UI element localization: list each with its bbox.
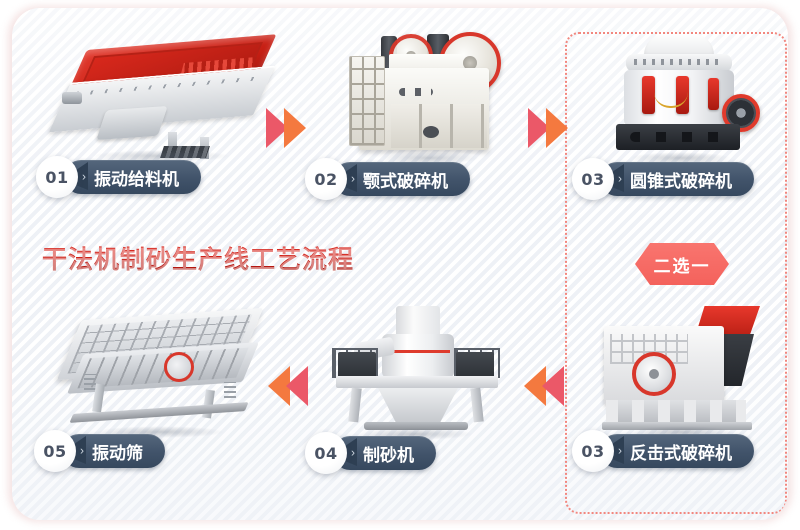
vibrating-feeder-image — [50, 34, 272, 156]
step-label-05[interactable]: 05 › 振动筛 — [34, 430, 165, 472]
step-name-pill[interactable]: › 颚式破碎机 — [333, 162, 470, 196]
step-name-pill[interactable]: › 制砂机 — [333, 436, 436, 470]
sand-making-machine-image — [324, 306, 508, 434]
arrow-sand-to-screen — [268, 366, 308, 406]
choose-one-badge: 二选一 — [635, 243, 729, 285]
diagram-canvas: 二选一 干法机制砂生产线工艺流程 01 › 振动给料机 02 › 颚式破碎机 0… — [12, 8, 788, 520]
step-name-pill[interactable]: › 振动给料机 — [64, 160, 201, 194]
arrow-right-icon — [546, 108, 568, 148]
step-number-badge: 03 — [572, 158, 614, 200]
step-label-text: 制砂机 — [363, 441, 414, 466]
step-label-text: 圆锥式破碎机 — [630, 167, 732, 192]
chevron-right-icon: › — [618, 172, 622, 186]
step-label-03-impact[interactable]: 03 › 反击式破碎机 — [572, 430, 754, 472]
arrow-impact-to-sand — [524, 366, 564, 406]
process-flow-diagram: 二选一 干法机制砂生产线工艺流程 01 › 振动给料机 02 › 颚式破碎机 0… — [0, 0, 800, 530]
step-label-text: 振动筛 — [92, 439, 143, 464]
step-label-text: 振动给料机 — [94, 165, 179, 190]
arrow-left-icon — [286, 366, 308, 406]
chevron-right-icon: › — [80, 444, 84, 458]
arrow-left-icon — [542, 366, 564, 406]
step-label-02[interactable]: 02 › 颚式破碎机 — [305, 158, 470, 200]
chevron-right-icon: › — [618, 444, 622, 458]
step-name-pill[interactable]: › 圆锥式破碎机 — [600, 162, 754, 196]
step-number-badge: 04 — [305, 432, 347, 474]
arrow-feeder-to-jaw — [266, 108, 306, 148]
step-label-04[interactable]: 04 › 制砂机 — [305, 432, 436, 474]
step-number-badge: 02 — [305, 158, 347, 200]
step-number-badge: 05 — [34, 430, 76, 472]
page-title: 干法机制砂生产线工艺流程 — [42, 240, 354, 276]
arrow-jaw-to-cone — [528, 108, 568, 148]
arrow-right-icon — [284, 108, 306, 148]
step-label-text: 颚式破碎机 — [363, 167, 448, 192]
chevron-right-icon: › — [351, 446, 355, 460]
step-label-01[interactable]: 01 › 振动给料机 — [36, 156, 201, 198]
chevron-right-icon: › — [82, 170, 86, 184]
step-label-03-cone[interactable]: 03 › 圆锥式破碎机 — [572, 158, 754, 200]
vibrating-screen-image — [54, 308, 266, 432]
step-name-pill[interactable]: › 振动筛 — [62, 434, 165, 468]
chevron-right-icon: › — [351, 172, 355, 186]
step-number-badge: 01 — [36, 156, 78, 198]
jaw-crusher-image — [349, 26, 511, 158]
step-number-badge: 03 — [572, 430, 614, 472]
step-name-pill[interactable]: › 反击式破碎机 — [600, 434, 754, 468]
step-label-text: 反击式破碎机 — [630, 439, 732, 464]
